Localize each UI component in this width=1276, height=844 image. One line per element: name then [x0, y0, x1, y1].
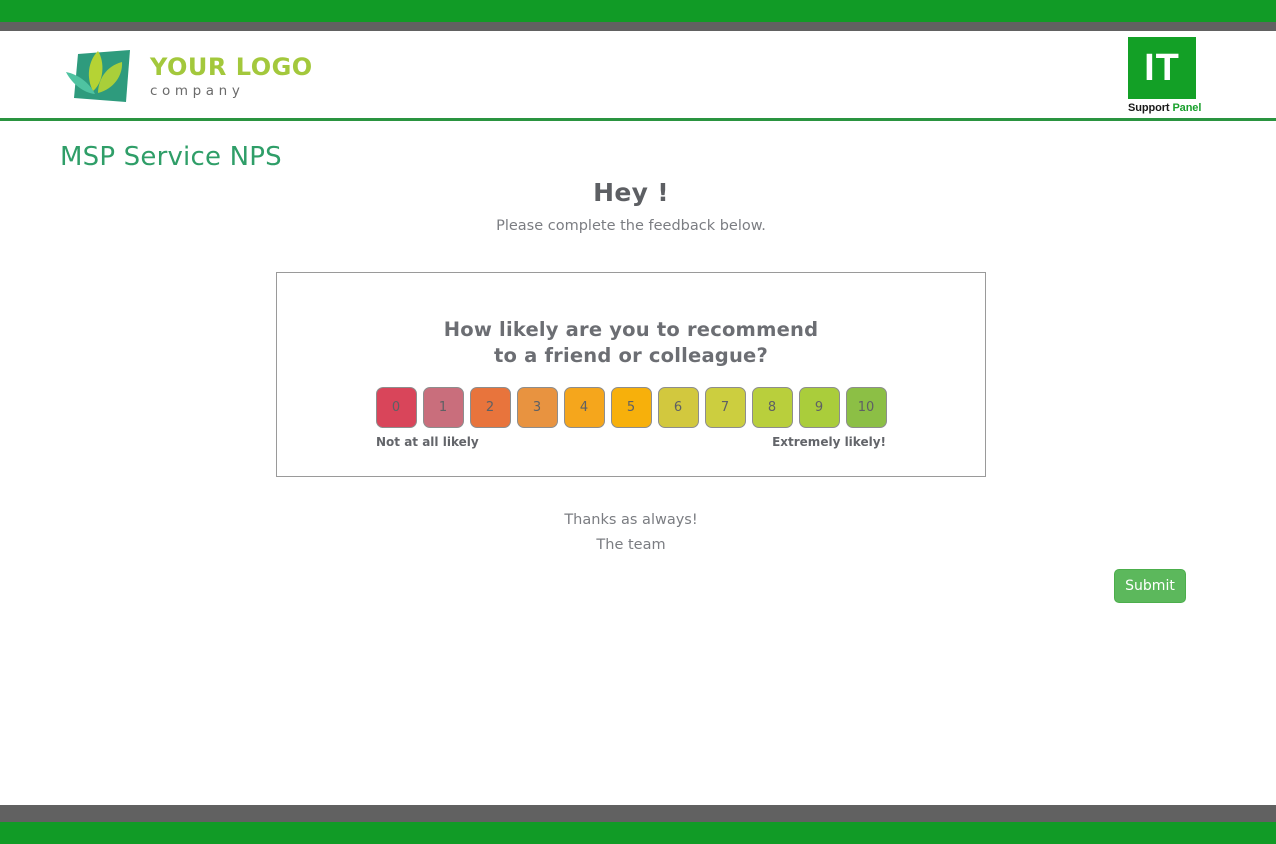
- nps-score-9[interactable]: 9: [799, 387, 840, 428]
- bottom-gray-bar: [0, 805, 1276, 822]
- top-gray-bar: [0, 22, 1276, 31]
- it-badge-caption-secondary: Panel: [1172, 102, 1201, 114]
- nps-scale[interactable]: 012345678910: [277, 387, 985, 428]
- it-badge-letters: IT: [1144, 49, 1180, 87]
- nps-score-2[interactable]: 2: [470, 387, 511, 428]
- leaf-logo-icon: [62, 44, 140, 108]
- brand-logo[interactable]: YOUR LOGO company: [62, 44, 313, 108]
- nps-scale-labels: Not at all likely Extremely likely!: [376, 435, 886, 451]
- brand-logo-text: YOUR LOGO company: [150, 53, 313, 99]
- it-badge-tile: IT: [1128, 37, 1196, 99]
- nps-score-0[interactable]: 0: [376, 387, 417, 428]
- survey-question-line-2: to a friend or colleague?: [277, 343, 985, 369]
- submit-button[interactable]: Submit: [1114, 569, 1186, 603]
- greeting-heading: Hey !: [0, 178, 1262, 207]
- nps-score-1[interactable]: 1: [423, 387, 464, 428]
- nps-label-high: Extremely likely!: [772, 435, 886, 449]
- nps-score-10[interactable]: 10: [846, 387, 887, 428]
- it-badge-caption: Support Panel: [1128, 102, 1198, 114]
- nps-score-5[interactable]: 5: [611, 387, 652, 428]
- it-support-panel-badge[interactable]: IT Support Panel: [1128, 37, 1198, 114]
- nps-label-low: Not at all likely: [376, 435, 479, 449]
- nps-score-3[interactable]: 3: [517, 387, 558, 428]
- nps-score-8[interactable]: 8: [752, 387, 793, 428]
- header-divider: [0, 118, 1276, 121]
- survey-question-line-1: How likely are you to recommend: [277, 317, 985, 343]
- nps-score-4[interactable]: 4: [564, 387, 605, 428]
- it-badge-caption-primary: Support: [1128, 102, 1169, 114]
- greeting-subtext: Please complete the feedback below.: [0, 218, 1262, 234]
- nps-score-7[interactable]: 7: [705, 387, 746, 428]
- nps-score-6[interactable]: 6: [658, 387, 699, 428]
- brand-logo-subtitle: company: [150, 85, 313, 99]
- bottom-green-bar: [0, 822, 1276, 844]
- brand-logo-title: YOUR LOGO: [150, 55, 313, 79]
- closing-line-1: Thanks as always!: [0, 512, 1262, 528]
- closing-line-2: The team: [0, 537, 1262, 553]
- survey-question: How likely are you to recommend to a fri…: [277, 317, 985, 369]
- survey-card: How likely are you to recommend to a fri…: [276, 272, 986, 477]
- top-green-bar: [0, 0, 1276, 22]
- site-header: YOUR LOGO company IT Support Panel: [0, 31, 1276, 118]
- page-title: MSP Service NPS: [60, 142, 282, 172]
